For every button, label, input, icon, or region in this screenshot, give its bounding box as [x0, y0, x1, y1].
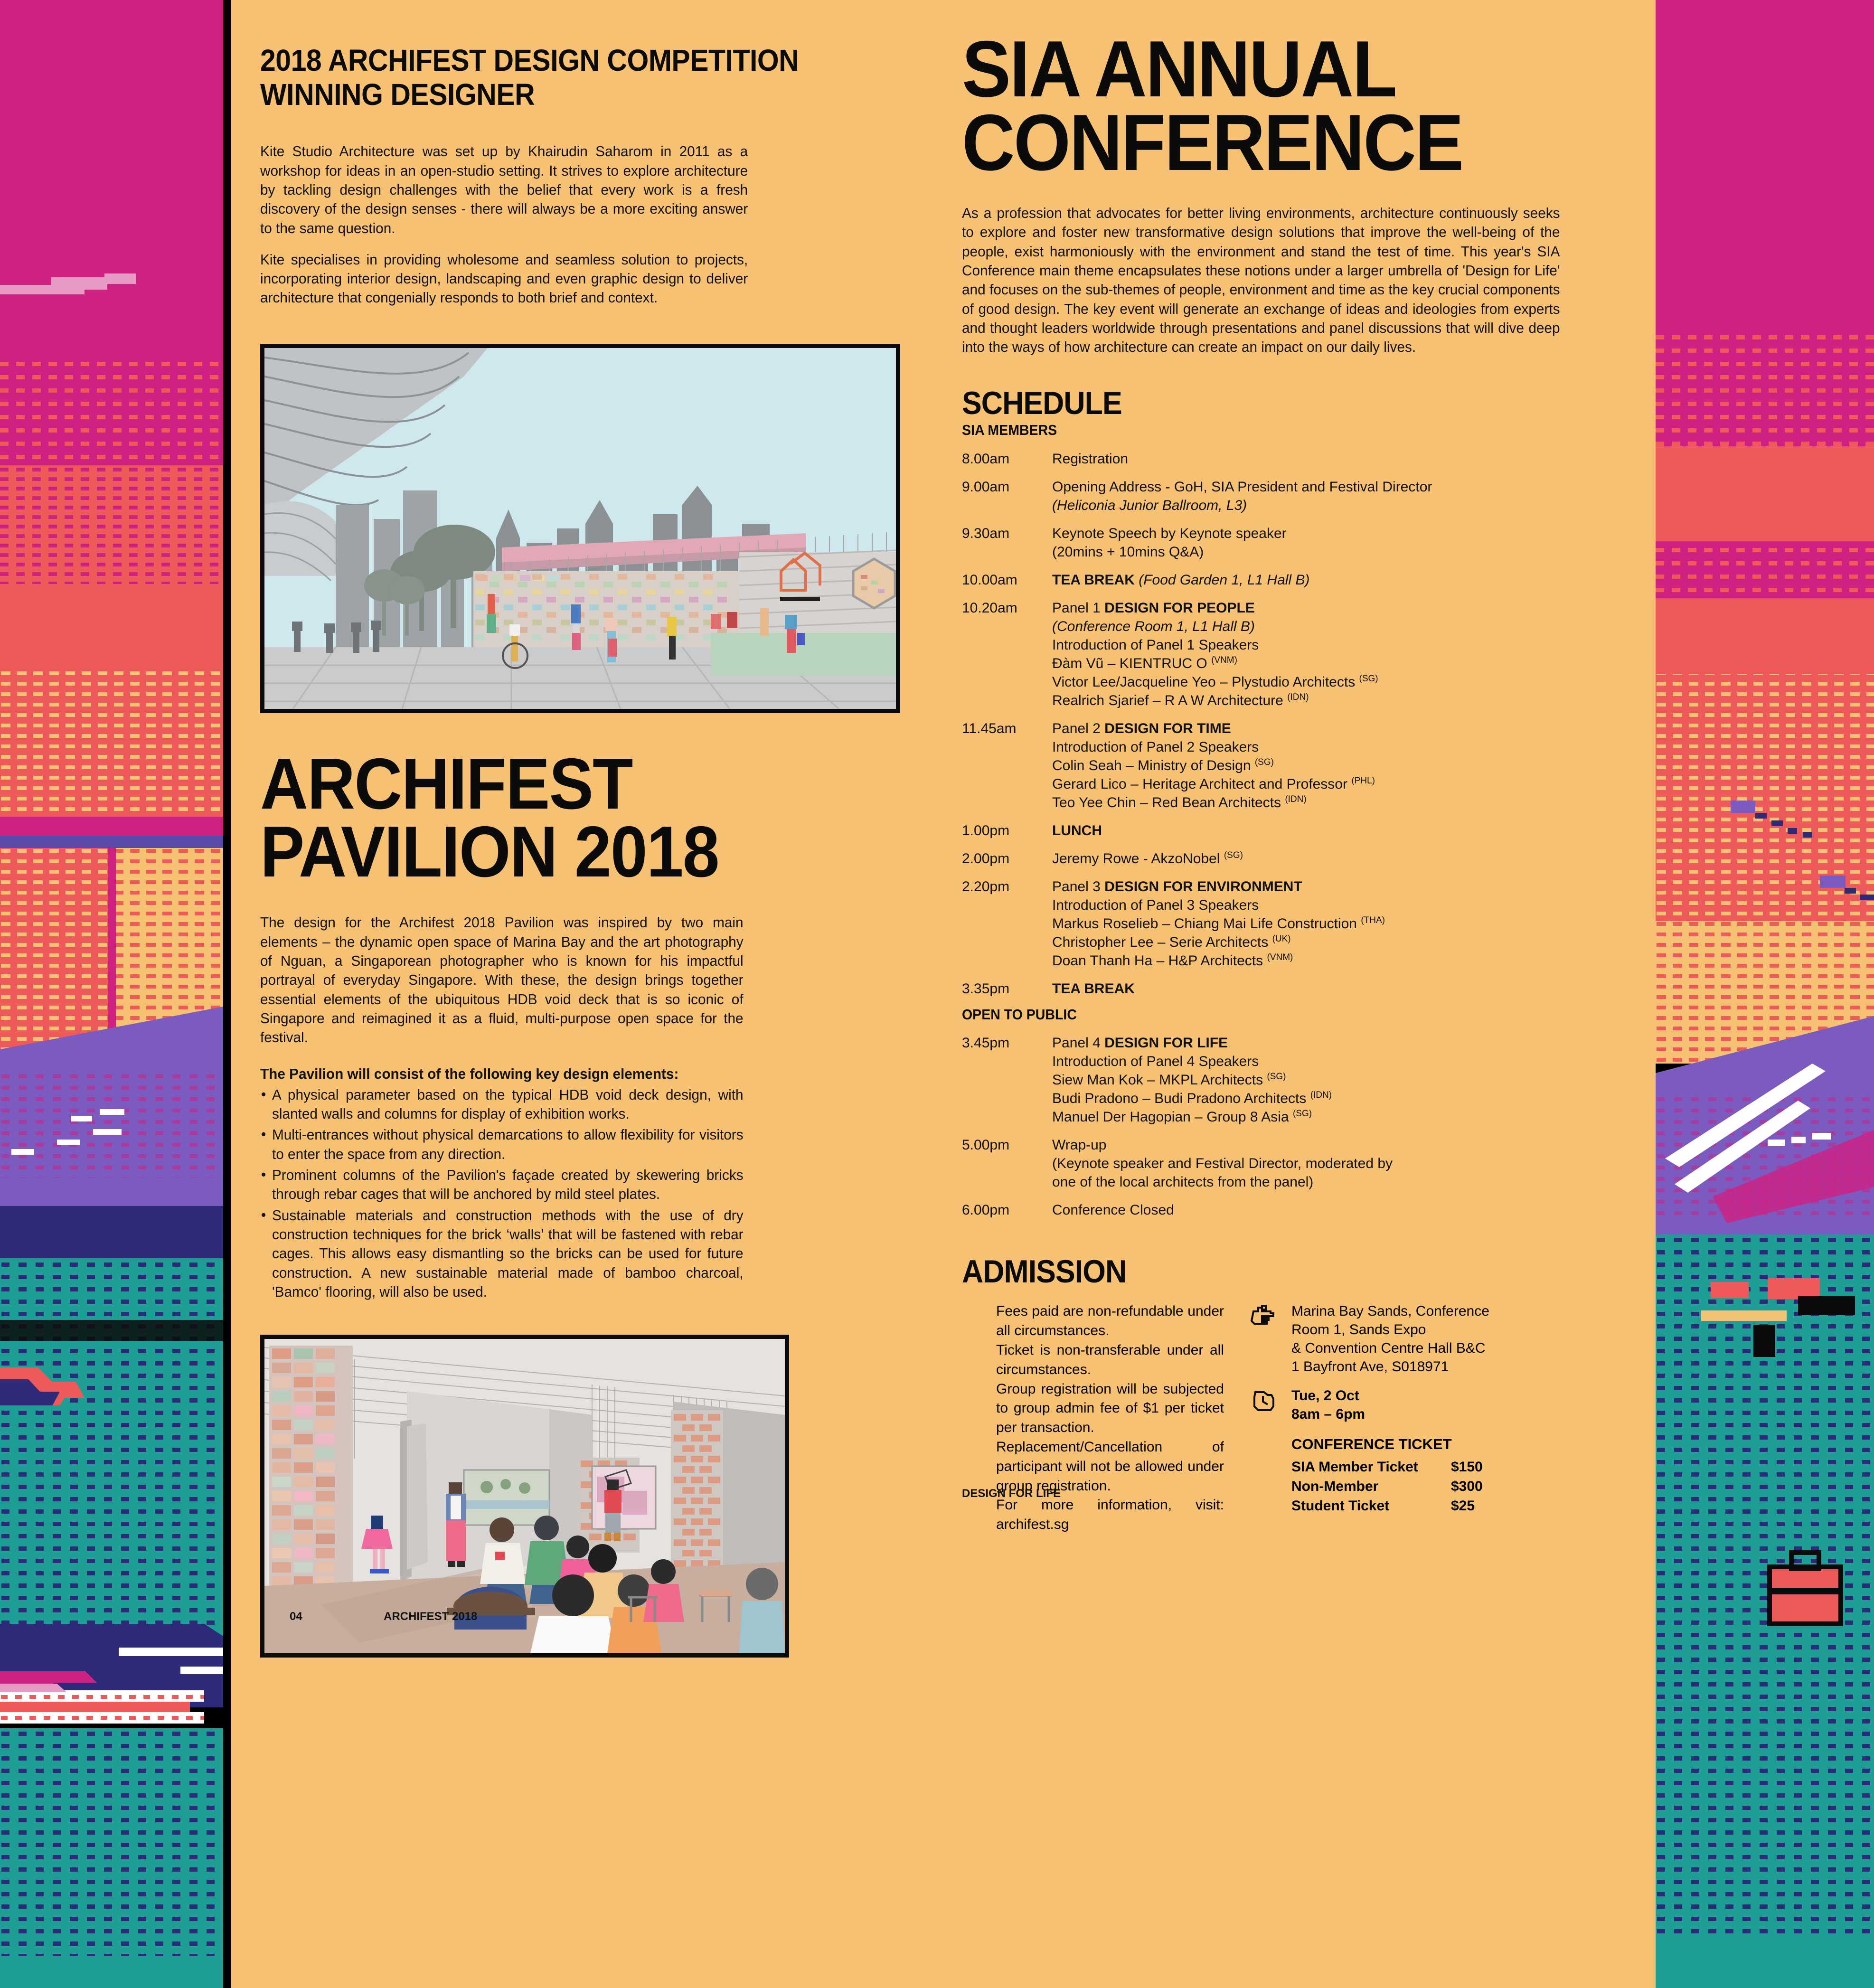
schedule-detail: Jeremy Rowe - AkzoNobel (SG)	[1052, 849, 1627, 868]
schedule-line: Manuel Der Hagopian – Group 8 Asia (SG)	[1052, 1108, 1627, 1126]
ticket-table: SIA Member Ticket$150Non-Member$300Stude…	[1291, 1458, 1627, 1516]
schedule-detail: Conference Closed	[1052, 1201, 1627, 1219]
list-item: Sustainable materials and construction m…	[260, 1206, 744, 1301]
schedule-detail: Panel 1 DESIGN FOR PEOPLE(Conference Roo…	[1052, 599, 1627, 710]
schedule-row: 11.45amPanel 2 DESIGN FOR TIMEIntroducti…	[962, 719, 1627, 812]
schedule-row: 6.00pmConference Closed	[962, 1201, 1627, 1219]
schedule-line: one of the local architects from the pan…	[1052, 1173, 1627, 1191]
schedule-line: TEA BREAK (Food Garden 1, L1 Hall B)	[1052, 571, 1627, 589]
schedule-line: TEA BREAK	[1052, 980, 1627, 998]
conference-intro-paragraph: As a profession that advocates for bette…	[962, 204, 1560, 357]
country-code: (IDN)	[1285, 794, 1306, 804]
schedule-line: (Heliconia Junior Ballroom, L3)	[1052, 496, 1627, 515]
schedule-line: Đàm Vũ – KIENTRUC O (VNM)	[1052, 654, 1627, 673]
schedule-time: 3.35pm	[962, 980, 1052, 998]
ticket-row: Student Ticket$25	[1291, 1497, 1627, 1516]
footer-label-center: Design for Life	[962, 1487, 1061, 1500]
page-title-kicker: 2018 Archifest Design Competition Winnin…	[260, 44, 863, 112]
schedule-detail: Opening Address - GoH, SIA President and…	[1052, 478, 1627, 515]
schedule-detail: Wrap-up(Keynote speaker and Festival Dir…	[1052, 1136, 1627, 1191]
country-code: (THA)	[1361, 915, 1385, 925]
venue-line-2: Room 1, Sands Expo	[1291, 1320, 1489, 1339]
venue-line-1: Marina Bay Sands, Conference	[1291, 1302, 1489, 1320]
paper-surface: 2018 Archifest Design Competition Winnin…	[231, 0, 1656, 1988]
list-item: A physical parameter based on the typica…	[260, 1085, 744, 1124]
schedule-time: 10.00am	[962, 571, 1052, 589]
clock-icon	[1251, 1386, 1291, 1423]
left-art-svg	[0, 0, 223, 1988]
schedule-line: Siew Man Kok – MKPL Architects (SG)	[1052, 1071, 1627, 1089]
ticket-row: SIA Member Ticket$150	[1291, 1458, 1627, 1477]
schedule-line: Colin Seah – Ministry of Design (SG)	[1052, 756, 1627, 775]
list-item: Prominent columns of the Pavilion's faça…	[260, 1166, 744, 1204]
schedule-line: Gerard Lico – Heritage Architect and Pro…	[1052, 775, 1627, 793]
schedule-row: 3.45pmPanel 4 DESIGN FOR LIFEIntroductio…	[962, 1034, 1627, 1126]
schedule-line: (Conference Room 1, L1 Hall B)	[1052, 617, 1627, 636]
right-page-column: SIA Annual Conference As a profession th…	[962, 0, 1627, 1535]
right-decorative-pixel-art	[1656, 0, 1874, 1988]
schedule-line: Keynote Speech by Keynote speaker	[1052, 524, 1627, 543]
schedule-title: Schedule	[962, 387, 1573, 419]
ticket-block: Conference Ticket SIA Member Ticket$150N…	[1291, 1436, 1627, 1516]
schedule-line: Christopher Lee – Serie Architects (UK)	[1052, 933, 1627, 952]
country-code: (IDN)	[1310, 1090, 1332, 1100]
left-page-column: 2018 Archifest Design Competition Winnin…	[260, 0, 915, 1658]
left-frame-rule	[223, 0, 231, 1988]
schedule-detail: Panel 2 DESIGN FOR TIMEIntroduction of P…	[1052, 719, 1627, 812]
ticket-name: Student Ticket	[1291, 1497, 1451, 1516]
schedule-detail: LUNCH	[1052, 821, 1627, 840]
schedule-detail: Registration	[1052, 450, 1627, 468]
country-code: (VNM)	[1267, 952, 1293, 962]
footer-label-left: Archifest 2018	[384, 1610, 477, 1623]
country-code: (SG)	[1267, 1072, 1286, 1082]
admission-venue-block: Marina Bay Sands, Conference Room 1, San…	[1251, 1302, 1627, 1535]
schedule-row: 2.00pmJeremy Rowe - AkzoNobel (SG)	[962, 849, 1627, 868]
schedule: SIA Members8.00amRegistration9.00amOpeni…	[962, 423, 1627, 1219]
schedule-line: Introduction of Panel 4 Speakers	[1052, 1052, 1627, 1071]
country-code: (SG)	[1293, 1109, 1312, 1119]
footer-page-number-left: 04	[290, 1610, 302, 1623]
admission-term: For more information, visit: archifest.s…	[996, 1496, 1224, 1535]
schedule-line: Panel 3 DESIGN FOR ENVIRONMENT	[1052, 877, 1627, 896]
schedule-line: Doan Thanh Ha – H&P Architects (VNM)	[1052, 952, 1627, 970]
schedule-section-heading: SIA Members	[962, 423, 1573, 437]
conference-datetime: Tue, 2 Oct 8am – 6pm	[1291, 1386, 1365, 1423]
schedule-row: 3.35pmTEA BREAK	[962, 980, 1627, 998]
schedule-time: 9.30am	[962, 524, 1052, 561]
conference-hours: 8am – 6pm	[1291, 1405, 1365, 1423]
schedule-line: Teo Yee Chin – Red Bean Architects (IDN)	[1052, 793, 1627, 812]
pavilion-title: Archifest Pavilion 2018	[260, 750, 863, 886]
list-item: Multi-entrances without physical demarca…	[260, 1125, 744, 1164]
admission-term: Group registration will be subjected to …	[996, 1380, 1224, 1438]
conference-date: Tue, 2 Oct	[1291, 1386, 1365, 1405]
kite-paragraph-2: Kite specialises in providing wholesome …	[260, 250, 748, 308]
schedule-line: (Keynote speaker and Festival Director, …	[1052, 1154, 1627, 1173]
schedule-row: 5.00pmWrap-up(Keynote speaker and Festiv…	[962, 1136, 1627, 1191]
schedule-line: Panel 1 DESIGN FOR PEOPLE	[1052, 599, 1627, 617]
pavilion-elements-list: A physical parameter based on the typica…	[260, 1085, 744, 1301]
schedule-time: 10.20am	[962, 599, 1052, 710]
schedule-time: 11.45am	[962, 719, 1052, 812]
venue-line: Marina Bay Sands, Conference Room 1, San…	[1251, 1302, 1627, 1376]
schedule-time: 9.00am	[962, 478, 1052, 515]
schedule-time: 8.00am	[962, 450, 1052, 468]
schedule-row: 9.30amKeynote Speech by Keynote speaker(…	[962, 524, 1627, 561]
magazine-spread: 2018 Archifest Design Competition Winnin…	[0, 0, 1874, 1988]
schedule-time: 2.00pm	[962, 849, 1052, 868]
schedule-line: Markus Roselieb – Chiang Mai Life Constr…	[1052, 914, 1627, 933]
interior-rendering-svg	[264, 1339, 785, 1653]
country-code: (VNM)	[1211, 655, 1237, 665]
schedule-time: 6.00pm	[962, 1201, 1052, 1219]
elements-lead: The Pavilion will consist of the followi…	[260, 1065, 744, 1084]
pointing-hand-glyph	[1251, 1304, 1277, 1326]
admission-term: Fees paid are non-refundable under all c…	[996, 1302, 1224, 1341]
country-code: (SG)	[1224, 850, 1243, 860]
pavilion-elements-block: The Pavilion will consist of the followi…	[260, 1065, 744, 1302]
admission-term: Ticket is non-transferable under all cir…	[996, 1341, 1224, 1380]
country-code: (UK)	[1272, 934, 1291, 944]
schedule-section-heading: Open to Public	[962, 1008, 1573, 1021]
pavilion-intro: The design for the Archifest 2018 Pavili…	[260, 913, 744, 1047]
kite-paragraph-1: Kite Studio Architecture was set up by K…	[260, 142, 748, 237]
schedule-line: Opening Address - GoH, SIA President and…	[1052, 478, 1627, 496]
country-code: (SG)	[1359, 674, 1378, 684]
schedule-row: 10.20amPanel 1 DESIGN FOR PEOPLE(Confere…	[962, 599, 1627, 710]
schedule-line: Wrap-up	[1052, 1136, 1627, 1154]
schedule-detail: Panel 3 DESIGN FOR ENVIRONMENTIntroducti…	[1052, 877, 1627, 970]
admission-title: Admission	[962, 1255, 1573, 1288]
conference-title: SIA Annual Conference	[962, 32, 1573, 179]
clock-glyph	[1251, 1388, 1275, 1413]
ticket-name: Non-Member	[1291, 1477, 1451, 1497]
schedule-line: Realrich Sjarief – R A W Architecture (I…	[1052, 691, 1627, 710]
schedule-detail: Panel 4 DESIGN FOR LIFEIntroduction of P…	[1052, 1034, 1627, 1126]
schedule-line: Jeremy Rowe - AkzoNobel (SG)	[1052, 849, 1627, 868]
pavilion-interior-image	[260, 1335, 789, 1658]
ticket-name: SIA Member Ticket	[1291, 1458, 1451, 1477]
schedule-line: Conference Closed	[1052, 1201, 1627, 1219]
schedule-line: Budi Pradono – Budi Pradono Architects (…	[1052, 1089, 1627, 1108]
schedule-detail: Keynote Speech by Keynote speaker(20mins…	[1052, 524, 1627, 561]
schedule-time: 2.20pm	[962, 877, 1052, 970]
ticket-heading: Conference Ticket	[1291, 1436, 1627, 1453]
pavilion-title-line-2: Pavilion 2018	[260, 811, 719, 892]
exterior-rendering-svg	[264, 348, 896, 709]
admission-details: Fees paid are non-refundable under all c…	[962, 1302, 1627, 1535]
schedule-row: 8.00amRegistration	[962, 450, 1627, 468]
ticket-price: $150	[1451, 1458, 1483, 1477]
country-code: (IDN)	[1287, 692, 1309, 702]
kite-studio-description: Kite Studio Architecture was set up by K…	[260, 142, 748, 307]
schedule-line: (20mins + 10mins Q&A)	[1052, 543, 1627, 561]
pointing-hand-icon	[1251, 1302, 1291, 1376]
datetime-line: Tue, 2 Oct 8am – 6pm	[1251, 1386, 1627, 1423]
schedule-line: LUNCH	[1052, 821, 1627, 840]
pavilion-intro-paragraph: The design for the Archifest 2018 Pavili…	[260, 913, 744, 1047]
schedule-line: Introduction of Panel 3 Speakers	[1052, 896, 1627, 914]
venue-line-3: & Convention Centre Hall B&C	[1291, 1339, 1489, 1357]
ticket-price: $300	[1451, 1477, 1483, 1497]
country-code: (SG)	[1255, 757, 1274, 767]
country-code: (PHL)	[1351, 776, 1375, 786]
left-decorative-pixel-art	[0, 0, 223, 1988]
schedule-detail: TEA BREAK	[1052, 980, 1627, 998]
schedule-line: Introduction of Panel 2 Speakers	[1052, 738, 1627, 756]
conference-intro: As a profession that advocates for bette…	[962, 204, 1560, 357]
venue-address: Marina Bay Sands, Conference Room 1, San…	[1291, 1302, 1489, 1376]
schedule-detail: TEA BREAK (Food Garden 1, L1 Hall B)	[1052, 571, 1627, 589]
schedule-line: Panel 4 DESIGN FOR LIFE	[1052, 1034, 1627, 1052]
schedule-line: Victor Lee/Jacqueline Yeo – Plystudio Ar…	[1052, 673, 1627, 691]
schedule-line: Panel 2 DESIGN FOR TIME	[1052, 719, 1627, 738]
schedule-line: Introduction of Panel 1 Speakers	[1052, 636, 1627, 654]
schedule-time: 1.00pm	[962, 821, 1052, 840]
schedule-time: 5.00pm	[962, 1136, 1052, 1191]
ticket-row: Non-Member$300	[1291, 1477, 1627, 1497]
schedule-row: 1.00pmLUNCH	[962, 821, 1627, 840]
conference-title-line-2: Conference	[962, 98, 1462, 187]
schedule-time: 3.45pm	[962, 1034, 1052, 1126]
pavilion-exterior-image	[260, 344, 900, 713]
schedule-row: 9.00amOpening Address - GoH, SIA Preside…	[962, 478, 1627, 515]
schedule-row: 10.00amTEA BREAK (Food Garden 1, L1 Hall…	[962, 571, 1627, 589]
schedule-row: 2.20pmPanel 3 DESIGN FOR ENVIRONMENTIntr…	[962, 877, 1627, 970]
ticket-price: $25	[1451, 1497, 1475, 1516]
venue-line-4: 1 Bayfront Ave, S018971	[1291, 1357, 1489, 1376]
schedule-line: Registration	[1052, 450, 1627, 468]
right-art-svg	[1656, 0, 1874, 1988]
